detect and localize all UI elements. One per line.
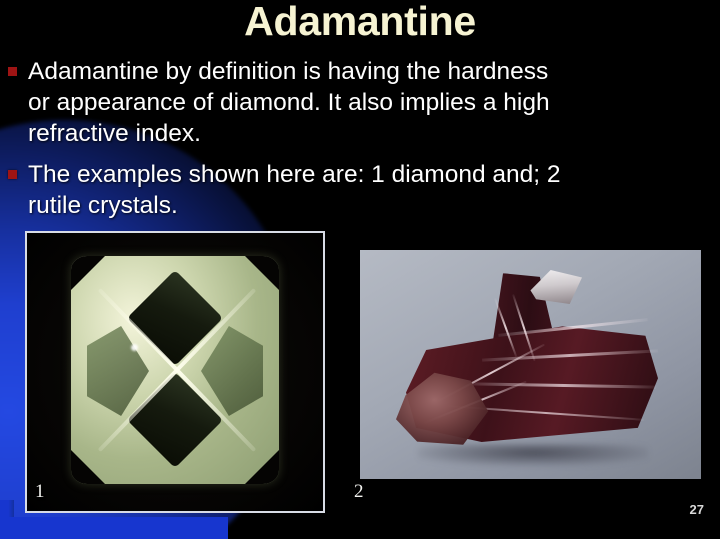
diamond-corner-top-right <box>245 256 279 290</box>
diamond-image-frame: 1 <box>25 231 325 513</box>
rutile-image-frame <box>360 250 701 479</box>
figure-label-1: 1 <box>35 481 45 503</box>
square-bullet-icon <box>8 67 17 76</box>
diamond-image-backdrop: 1 <box>27 233 323 511</box>
page-number: 27 <box>690 502 704 517</box>
diamond-corner-top-left <box>71 256 105 290</box>
diamond-crystal-illustration <box>71 256 279 484</box>
presentation-slide: Adamantine Adamantine by definition is h… <box>0 0 720 539</box>
figure-label-2: 2 <box>354 481 364 503</box>
diamond-corner-bottom-left <box>71 450 105 484</box>
diamond-facet-top <box>127 270 223 366</box>
diamond-facet-bottom <box>127 372 223 468</box>
square-bullet-icon <box>8 170 17 179</box>
bullet-text: The examples shown here are: 1 diamond a… <box>28 159 573 221</box>
bullet-text: Adamantine by definition is having the h… <box>28 56 573 149</box>
diamond-sparkle <box>131 344 138 351</box>
diamond-corner-bottom-right <box>245 450 279 484</box>
diamond-facet-left <box>87 326 149 416</box>
bullet-list: Adamantine by definition is having the h… <box>8 56 708 231</box>
list-item: The examples shown here are: 1 diamond a… <box>8 159 708 221</box>
list-item: Adamantine by definition is having the h… <box>8 56 708 149</box>
rutile-crystal-illustration <box>378 272 682 462</box>
rutile-drop-shadow <box>418 444 648 466</box>
page-title: Adamantine <box>0 0 720 45</box>
background-blue-bottom-bar <box>0 517 228 539</box>
